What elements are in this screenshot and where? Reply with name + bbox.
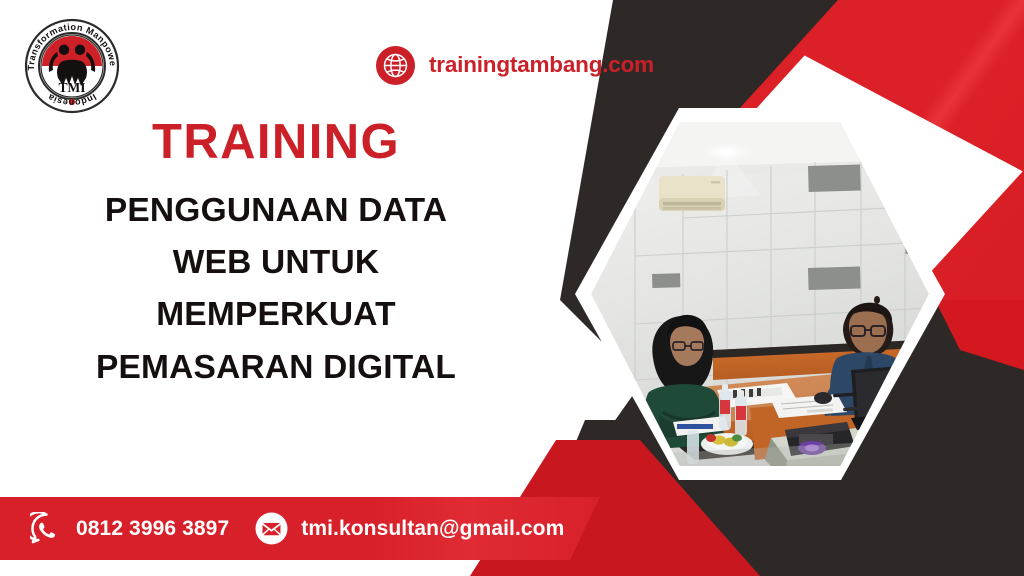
training-room-photo: hp: [575, 108, 945, 480]
air-conditioner: [659, 176, 725, 211]
promotional-banner: TMI Transformation Manpower Indonesia: [0, 0, 1024, 576]
contact-bar: 0812 3996 3897 tmi.konsultan@gmail.com: [0, 497, 600, 560]
contact-email[interactable]: tmi.konsultan@gmail.com: [255, 512, 564, 545]
envelope-icon: [255, 512, 288, 545]
title-line-4: PEMASARAN DIGITAL: [0, 342, 552, 394]
title-line-1: PENGGUNAAN DATA: [0, 185, 552, 237]
website-line[interactable]: trainingtambang.com: [376, 46, 654, 85]
mouse: [814, 392, 832, 404]
title-line-3: MEMPERKUAT: [0, 289, 552, 341]
email-address[interactable]: tmi.konsultan@gmail.com: [301, 518, 564, 539]
photo-content: hp: [575, 108, 945, 480]
headline-title: PENGGUNAAN DATA WEB UNTUK MEMPERKUAT PEM…: [0, 185, 552, 394]
phone-number[interactable]: 0812 3996 3897: [76, 518, 229, 539]
headline-block: TRAINING PENGGUNAAN DATA WEB UNTUK MEMPE…: [0, 118, 552, 394]
eyebrow-training: TRAINING: [0, 118, 552, 168]
globe-icon: [376, 46, 415, 85]
title-line-2: WEB UNTUK: [0, 237, 552, 289]
tmi-logo: TMI Transformation Manpower Indonesia: [17, 14, 127, 118]
whatsapp-icon: [30, 512, 63, 545]
contact-phone[interactable]: 0812 3996 3897: [30, 512, 229, 545]
logo-acronym: TMI: [59, 80, 86, 95]
website-url[interactable]: trainingtambang.com: [429, 54, 654, 77]
